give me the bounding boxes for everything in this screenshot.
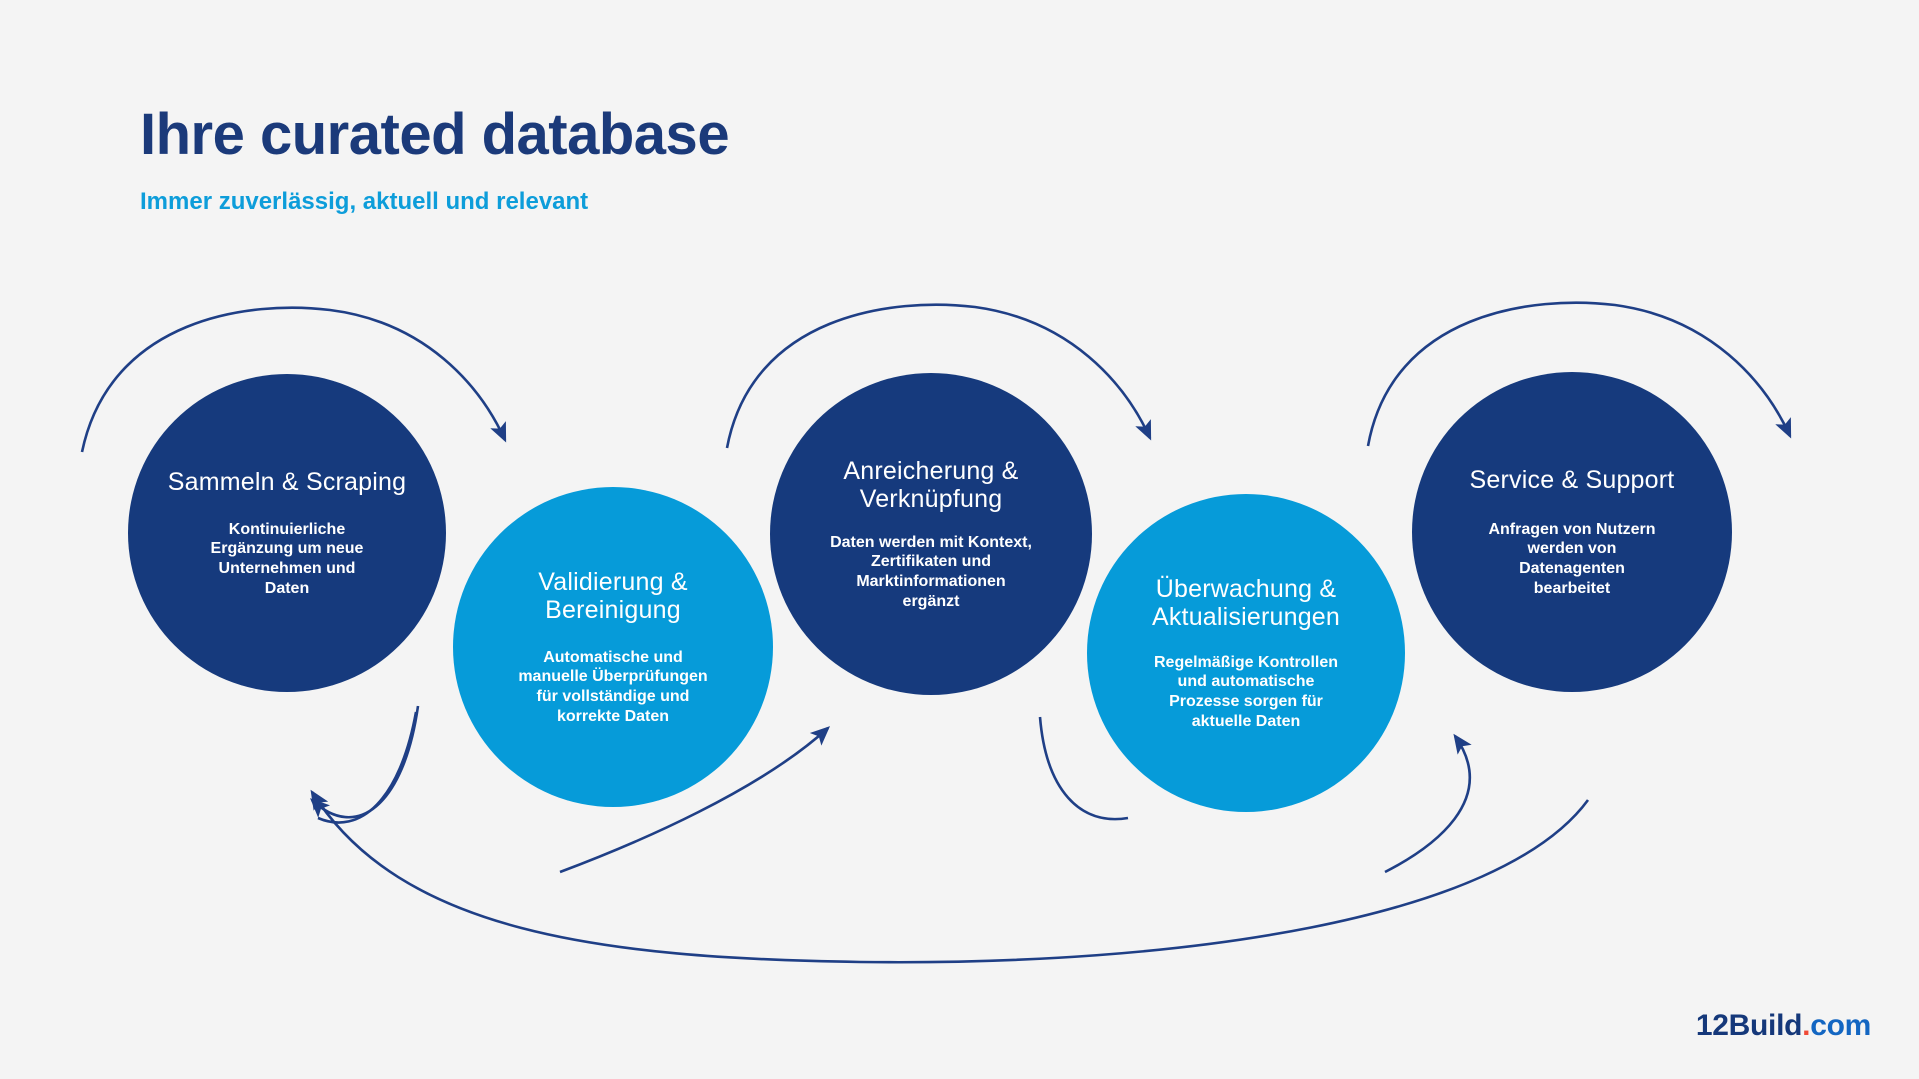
header: Ihre curated database Immer zuverlässig,… <box>140 105 1340 216</box>
arrow-return-step5-to-step1 <box>312 792 1588 962</box>
arrow-step2-to-step1 <box>318 712 416 823</box>
step-3-title: Anreicherung & Verknüpfung <box>786 457 1076 513</box>
step-1-body: Kontinuierliche Ergänzung um neue Untern… <box>197 520 377 598</box>
brand-logo[interactable]: 12Build.com <box>1696 1009 1871 1043</box>
arrow-step4-to-step5 <box>1385 736 1470 872</box>
step-circle-4[interactable]: Überwachung & Aktualisierungen Regelmäßi… <box>1087 494 1405 812</box>
step-5-body: Anfragen von Nutzern werden von Datenage… <box>1482 520 1662 598</box>
logo-text-secondary: com <box>1810 1009 1871 1042</box>
step-circle-5[interactable]: Service & Support Anfragen von Nutzern w… <box>1412 372 1732 692</box>
step-2-body: Automatische und manuelle Überprüfungen … <box>513 648 713 726</box>
logo-dot: . <box>1802 1009 1810 1042</box>
step-5-title: Service & Support <box>1470 466 1675 494</box>
arrow-step2-to-step1-tail <box>312 706 418 817</box>
diagram-canvas: Ihre curated database Immer zuverlässig,… <box>0 0 1919 1079</box>
page-title: Ihre curated database <box>140 105 1340 166</box>
step-circle-1[interactable]: Sammeln & Scraping Kontinuierliche Ergän… <box>128 374 446 692</box>
step-circle-2[interactable]: Validierung & Bereinigung Automatische u… <box>453 487 773 807</box>
step-3-body: Daten werden mit Kontext, Zertifikaten u… <box>826 533 1036 611</box>
page-subtitle: Immer zuverlässig, aktuell und relevant <box>140 166 1340 216</box>
logo-text-primary: 12Build <box>1696 1009 1802 1042</box>
step-4-title: Überwachung & Aktualisierungen <box>1103 575 1389 631</box>
step-1-title: Sammeln & Scraping <box>168 468 406 496</box>
step-4-body: Regelmäßige Kontrollen und automatische … <box>1151 653 1341 731</box>
step-2-title: Validierung & Bereinigung <box>469 568 757 624</box>
step-circle-3[interactable]: Anreicherung & Verknüpfung Daten werden … <box>770 373 1092 695</box>
